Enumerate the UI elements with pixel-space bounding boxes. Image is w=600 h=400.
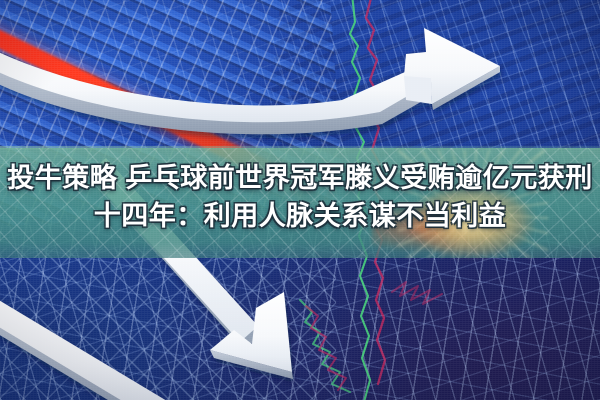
thumbnail-image: 投牛策略 乒乓球前世界冠军滕义受贿逾亿元获刑 十四年：利用人脉关系谋不当利益 [0, 0, 600, 400]
headline-line-2: 十四年：利用人脉关系谋不当利益 [94, 198, 507, 234]
headline-block: 投牛策略 乒乓球前世界冠军滕义受贿逾亿元获刑 十四年：利用人脉关系谋不当利益 [0, 160, 600, 234]
headline-line-1: 投牛策略 乒乓球前世界冠军滕义受贿逾亿元获刑 [7, 160, 593, 196]
